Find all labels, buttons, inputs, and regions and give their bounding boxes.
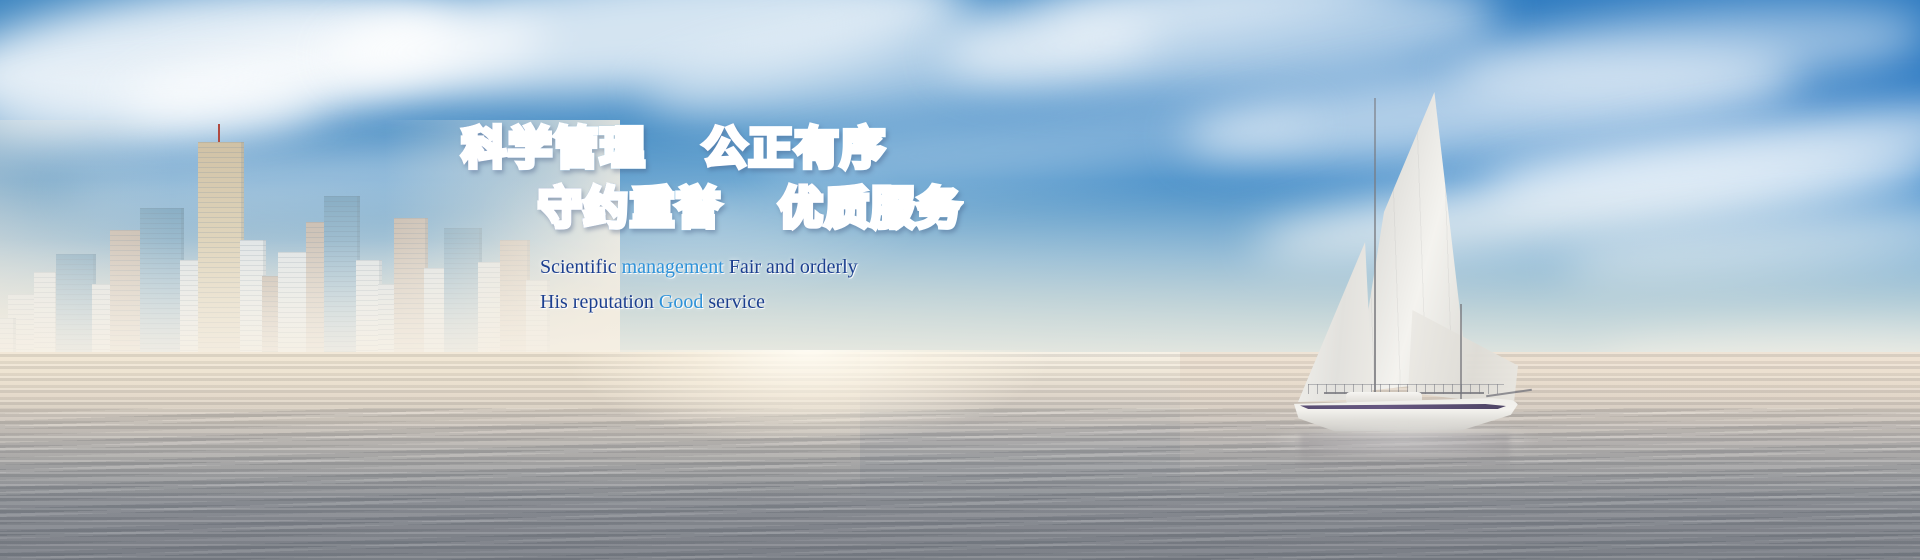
headline-line1-part1: 科学管理 — [462, 123, 646, 174]
subtitle-line-2: His reputation Good service — [540, 289, 960, 315]
subtitle-line2-word1: His reputation — [540, 291, 659, 313]
subtitle-line1-word2: management — [622, 256, 729, 278]
mizzen-mast — [1460, 304, 1462, 410]
subtitle-line-1: Scientific management Fair and orderly — [540, 254, 960, 280]
subtitle-line1-word1: Scientific — [540, 256, 622, 278]
headline-line2-part2: 优质服务 — [779, 183, 963, 234]
subtitle-line2-word3: service — [708, 291, 765, 313]
hull — [1294, 396, 1520, 432]
headline-line1-part2: 公正有序 — [703, 123, 887, 174]
sailboat — [1288, 92, 1538, 442]
sea-background — [0, 352, 1920, 560]
banner-copy: 科学管理 公正有序 守约重誉 优质服务 Scientific managemen… — [440, 125, 960, 315]
subtitle-line1-word3: Fair and orderly — [729, 256, 858, 278]
headline-line-1: 科学管理 公正有序 — [462, 125, 960, 173]
jib-sail — [1298, 242, 1376, 402]
mast — [1374, 98, 1376, 410]
subtitle-line2-word2: Good — [659, 291, 708, 313]
hero-banner: 科学管理 公正有序 守约重誉 优质服务 Scientific managemen… — [0, 0, 1920, 560]
headline-line2-part1: 守约重誉 — [538, 183, 722, 234]
headline-line-2: 守约重誉 优质服务 — [538, 185, 960, 233]
